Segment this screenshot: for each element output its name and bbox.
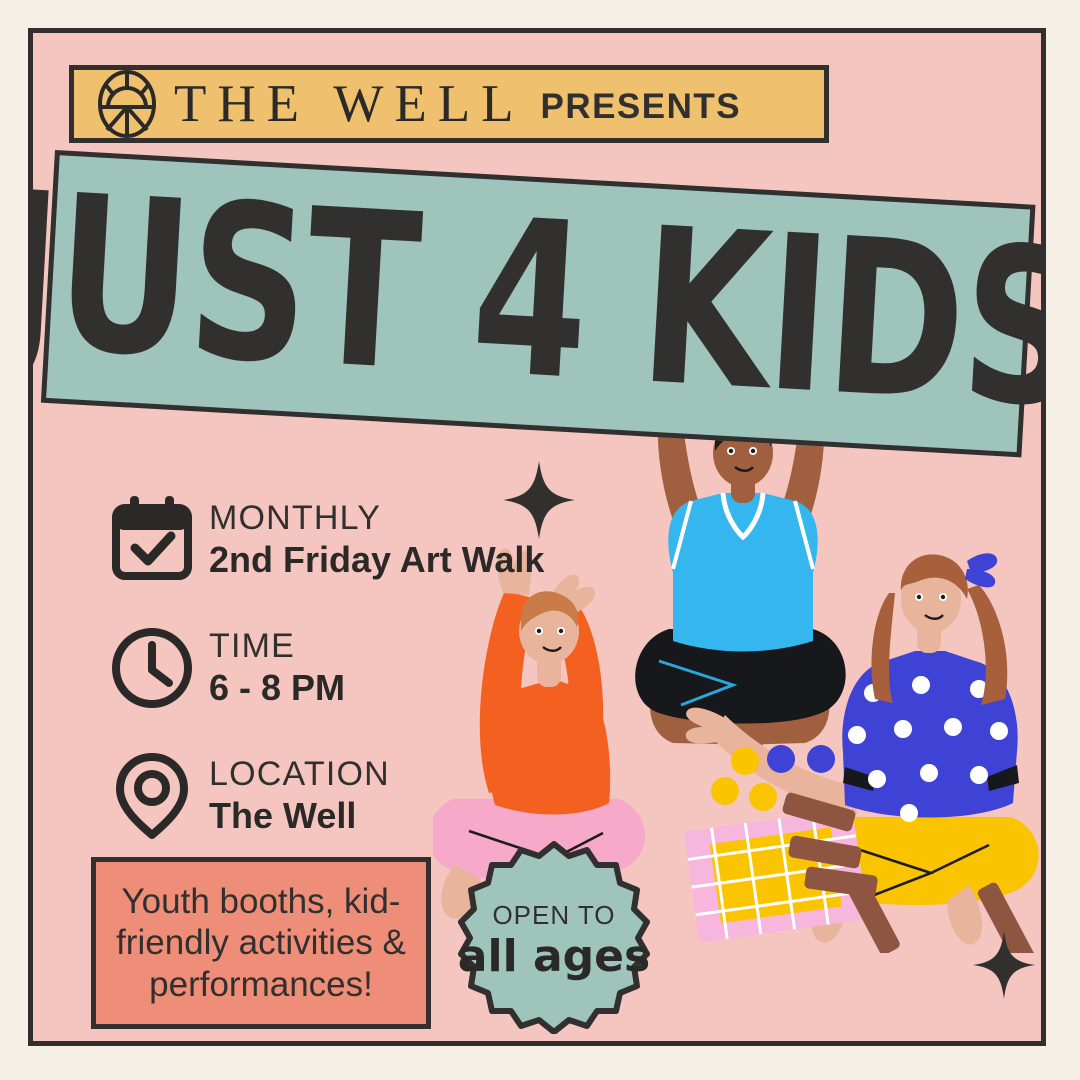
badge-top-line: OPEN TO xyxy=(492,900,615,930)
detail-label: TIME xyxy=(209,627,345,665)
detail-row-time: TIME 6 - 8 PM xyxy=(111,623,551,711)
detail-row-monthly: MONTHLY 2nd Friday Art Walk xyxy=(111,495,551,583)
badge-main-line: all ages xyxy=(458,931,650,982)
poster-card: THE WELL PRESENTS JUST 4 KIDS xyxy=(28,28,1046,1046)
detail-label: MONTHLY xyxy=(209,499,544,537)
open-to-all-ages-badge: OPEN TO all ages xyxy=(456,838,652,1034)
poster-canvas: THE WELL PRESENTS JUST 4 KIDS xyxy=(0,0,1080,1080)
brand-name: THE WELL xyxy=(174,78,524,131)
title-banner: JUST 4 KIDS xyxy=(41,150,1036,457)
well-wheel-logo-icon xyxy=(96,69,158,139)
presents-label: PRESENTS xyxy=(540,87,741,127)
detail-value: The Well xyxy=(209,795,390,836)
blurb-text: Youth booths, kid-friendly activities & … xyxy=(96,881,426,1005)
location-pin-icon xyxy=(111,751,193,839)
clock-icon xyxy=(111,623,193,711)
sparkle-star-icon xyxy=(973,931,1035,999)
detail-value: 6 - 8 PM xyxy=(209,667,345,708)
detail-label: LOCATION xyxy=(209,755,390,793)
detail-value: 2nd Friday Art Walk xyxy=(209,539,544,580)
event-details-list: MONTHLY 2nd Friday Art Walk TIME 6 - 8 P… xyxy=(111,495,551,879)
calendar-check-icon xyxy=(111,495,193,583)
detail-row-location: LOCATION The Well xyxy=(111,751,551,839)
blurb-box: Youth booths, kid-friendly activities & … xyxy=(91,857,431,1029)
page-title: JUST 4 KIDS xyxy=(28,163,1046,438)
header-bar: THE WELL PRESENTS xyxy=(69,65,829,143)
